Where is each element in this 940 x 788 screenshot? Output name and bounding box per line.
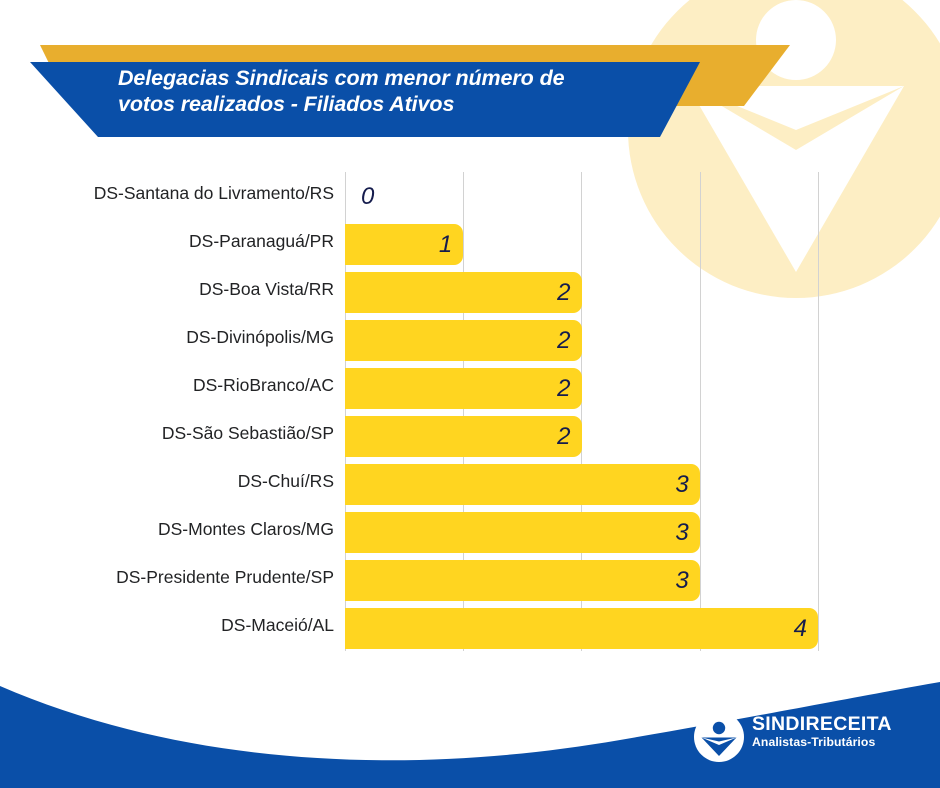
bar-value-label: 3 <box>345 464 700 505</box>
sindireceita-logo: SINDIRECEITA Analistas-Tributários <box>694 710 904 766</box>
title-line-2: votos realizados - Filiados Ativos <box>118 91 718 117</box>
bar-value-label: 2 <box>345 368 582 409</box>
bar-value-label: 4 <box>345 608 818 649</box>
category-label: DS-Boa Vista/RR <box>16 280 334 298</box>
bar-value-label: 3 <box>345 560 700 601</box>
category-axis: DS-Santana do Livramento/RS DS-Paranaguá… <box>8 172 334 652</box>
logo-subtitle: Analistas-Tributários <box>752 735 892 750</box>
title-line-1: Delegacias Sindicais com menor número de <box>118 66 564 90</box>
category-label: DS-Santana do Livramento/RS <box>16 184 334 202</box>
logo-text: SINDIRECEITA Analistas-Tributários <box>752 714 892 750</box>
bar-value-label: 2 <box>345 416 582 457</box>
bar-value-label: 3 <box>345 512 700 553</box>
category-label: DS-Divinópolis/MG <box>16 328 334 346</box>
category-label: DS-Maceió/AL <box>16 616 334 634</box>
category-label: DS-Paranaguá/PR <box>16 232 334 250</box>
chart-page: Delegacias Sindicais com menor número de… <box>0 0 940 788</box>
category-label: DS-Presidente Prudente/SP <box>16 568 334 586</box>
category-label: DS-RioBranco/AC <box>16 376 334 394</box>
bar-series: 0 1 2 2 2 2 3 <box>345 172 940 651</box>
logo-name: SINDIRECEITA <box>752 714 892 735</box>
bar-chart: DS-Santana do Livramento/RS DS-Paranaguá… <box>0 172 940 652</box>
bar-value-label: 2 <box>345 320 582 361</box>
category-label: DS-Chuí/RS <box>16 472 334 490</box>
category-label: DS-São Sebastião/SP <box>16 424 334 442</box>
page-title: Delegacias Sindicais com menor número de… <box>118 65 718 117</box>
bar-value-label: 2 <box>345 272 582 313</box>
category-label: DS-Montes Claros/MG <box>16 520 334 538</box>
sindireceita-figure-icon <box>694 712 744 762</box>
bar-value-label: 1 <box>345 224 463 265</box>
bar-value-label: 0 <box>345 176 393 217</box>
